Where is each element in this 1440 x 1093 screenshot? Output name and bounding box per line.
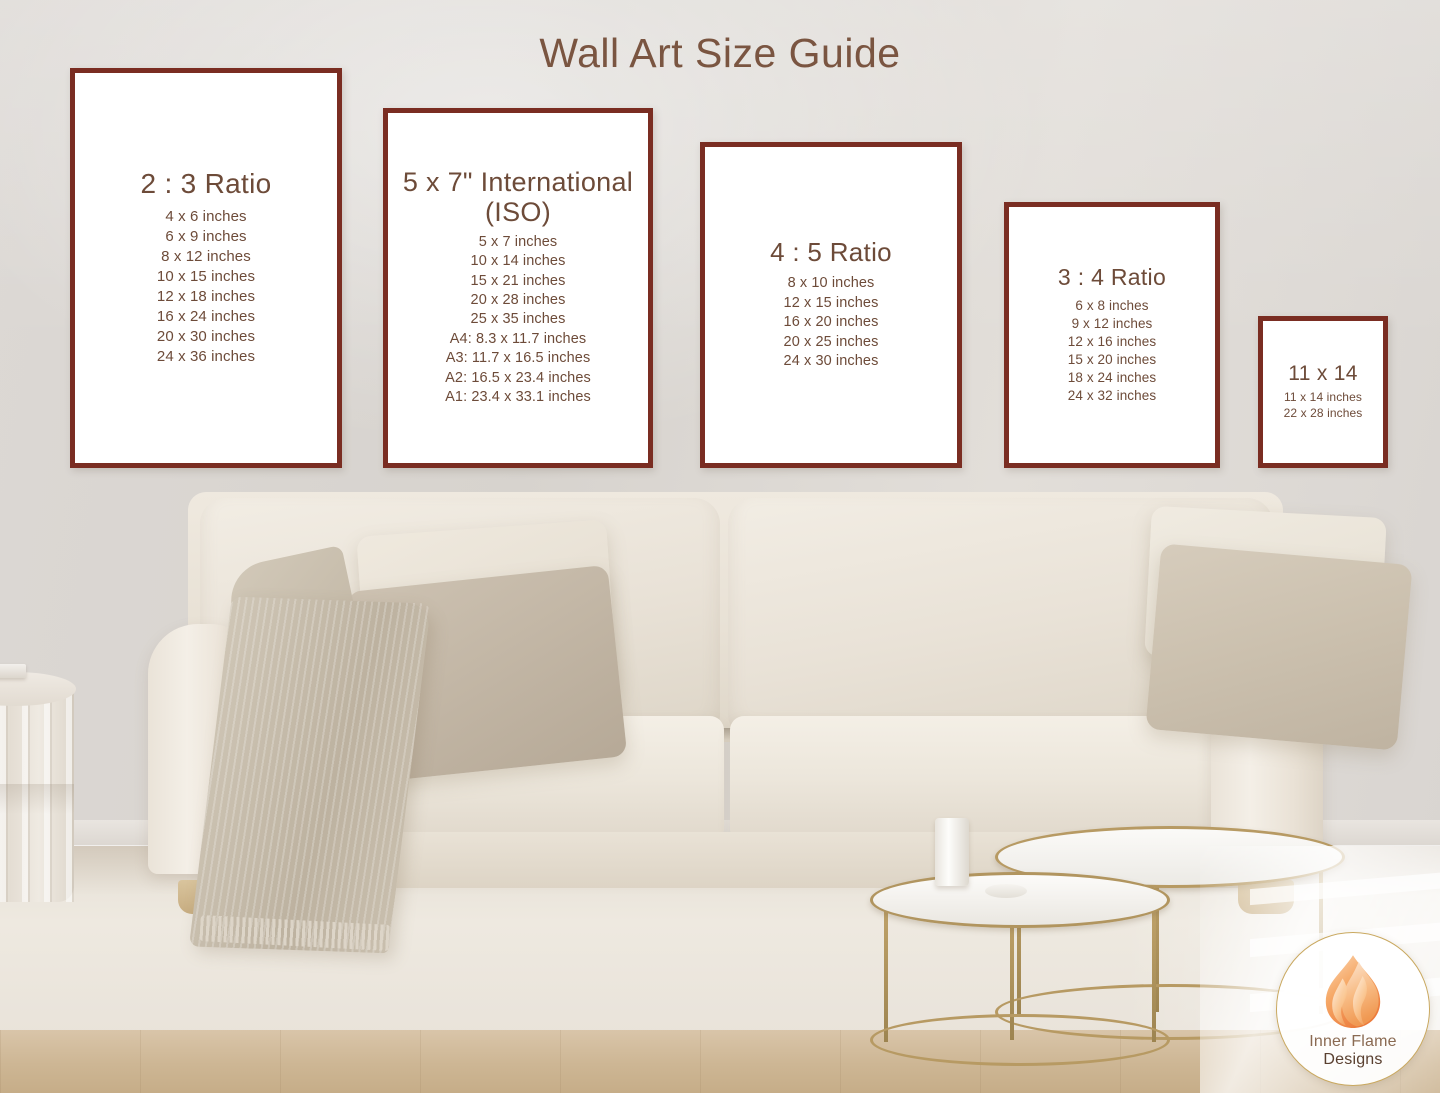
size-item: 22 x 28 inches [1267, 405, 1379, 421]
frame-title: 11 x 14 [1267, 363, 1379, 386]
size-item: 5 x 7 inches [392, 233, 644, 252]
small-table-base-ring [870, 1014, 1170, 1066]
white-vase [935, 818, 969, 886]
size-item: 16 x 24 inches [79, 307, 333, 327]
size-item: 15 x 21 inches [392, 272, 644, 291]
small-table-leg-right [1152, 908, 1156, 1042]
size-list: 4 x 6 inches6 x 9 inches8 x 12 inches10 … [79, 207, 333, 368]
size-item: 6 x 9 inches [79, 227, 333, 247]
size-item: 24 x 30 inches [709, 352, 953, 371]
size-item: A2: 16.5 x 23.4 inches [392, 369, 644, 388]
fluted-side-table [0, 672, 76, 910]
size-list: 5 x 7 inches10 x 14 inches15 x 21 inches… [392, 233, 644, 408]
brand-logo-watermark: Inner Flame Designs [1276, 932, 1430, 1086]
book-on-side-table [0, 664, 26, 678]
frame-title: 4 : 5 Ratio [709, 238, 953, 266]
size-item: 10 x 14 inches [392, 252, 644, 271]
size-item: 20 x 25 inches [709, 333, 953, 352]
frame-title: 3 : 4 Ratio [1013, 265, 1211, 290]
size-list: 6 x 8 inches9 x 12 inches12 x 16 inches1… [1013, 297, 1211, 405]
small-table-leg-left [884, 908, 888, 1042]
size-item: 10 x 15 inches [79, 267, 333, 287]
frame-ratio-4-5[interactable]: 4 : 5 Ratio 8 x 10 inches12 x 15 inches1… [700, 142, 962, 468]
wall-art-size-guide-poster: Wall Art Size Guide 2 : 3 Ratio 4 x 6 in… [0, 0, 1440, 1093]
size-item: A4: 8.3 x 11.7 inches [392, 330, 644, 349]
frame-content: 11 x 14 11 x 14 inches22 x 28 inches [1267, 363, 1379, 422]
size-item: 9 x 12 inches [1013, 315, 1211, 333]
size-item: A3: 11.7 x 16.5 inches [392, 349, 644, 368]
frame-title: 5 x 7" International (ISO) [392, 168, 644, 226]
size-list: 8 x 10 inches12 x 15 inches16 x 20 inche… [709, 274, 953, 371]
accent-pillow-right [1145, 543, 1412, 750]
size-item: 12 x 16 inches [1013, 333, 1211, 351]
side-table-waist-shadow [0, 784, 74, 814]
size-item: 12 x 18 inches [79, 287, 333, 307]
size-item: 11 x 14 inches [1267, 389, 1379, 405]
frame-ratio-2-3[interactable]: 2 : 3 Ratio 4 x 6 inches6 x 9 inches8 x … [70, 68, 342, 468]
small-coffee-table [870, 872, 1170, 1052]
frame-11x14[interactable]: 11 x 14 11 x 14 inches22 x 28 inches [1258, 316, 1388, 468]
size-item: 6 x 8 inches [1013, 297, 1211, 315]
size-item: 4 x 6 inches [79, 207, 333, 227]
size-item: 20 x 28 inches [392, 291, 644, 310]
frame-ratio-3-4[interactable]: 3 : 4 Ratio 6 x 8 inches9 x 12 inches12 … [1004, 202, 1220, 468]
size-item: 18 x 24 inches [1013, 369, 1211, 387]
seat-cushion-right [730, 716, 1276, 842]
frame-content: 3 : 4 Ratio 6 x 8 inches9 x 12 inches12 … [1013, 265, 1211, 405]
size-item: 12 x 15 inches [709, 294, 953, 313]
size-item: 16 x 20 inches [709, 313, 953, 332]
throw-blanket-texture [189, 597, 431, 954]
frame-content: 4 : 5 Ratio 8 x 10 inches12 x 15 inches1… [709, 238, 953, 371]
size-item: 8 x 12 inches [79, 247, 333, 267]
frame-content: 5 x 7" International (ISO) 5 x 7 inches1… [392, 168, 644, 407]
size-item: 25 x 35 inches [392, 310, 644, 329]
flame-icon [1313, 952, 1393, 1032]
size-item: 24 x 36 inches [79, 347, 333, 367]
size-item: 8 x 10 inches [709, 274, 953, 293]
size-item: 24 x 32 inches [1013, 387, 1211, 405]
small-table-marble-top [870, 872, 1170, 928]
frame-iso[interactable]: 5 x 7" International (ISO) 5 x 7 inches1… [383, 108, 653, 468]
size-list: 11 x 14 inches22 x 28 inches [1267, 389, 1379, 421]
size-item: A1: 23.4 x 33.1 inches [392, 388, 644, 407]
frame-content: 2 : 3 Ratio 4 x 6 inches6 x 9 inches8 x … [79, 169, 333, 368]
size-item: 15 x 20 inches [1013, 351, 1211, 369]
logo-line-2: Designs [1323, 1051, 1382, 1069]
logo-line-1: Inner Flame [1309, 1034, 1397, 1051]
size-item: 20 x 30 inches [79, 327, 333, 347]
marble-dish [985, 884, 1027, 898]
frame-title: 2 : 3 Ratio [79, 169, 333, 199]
